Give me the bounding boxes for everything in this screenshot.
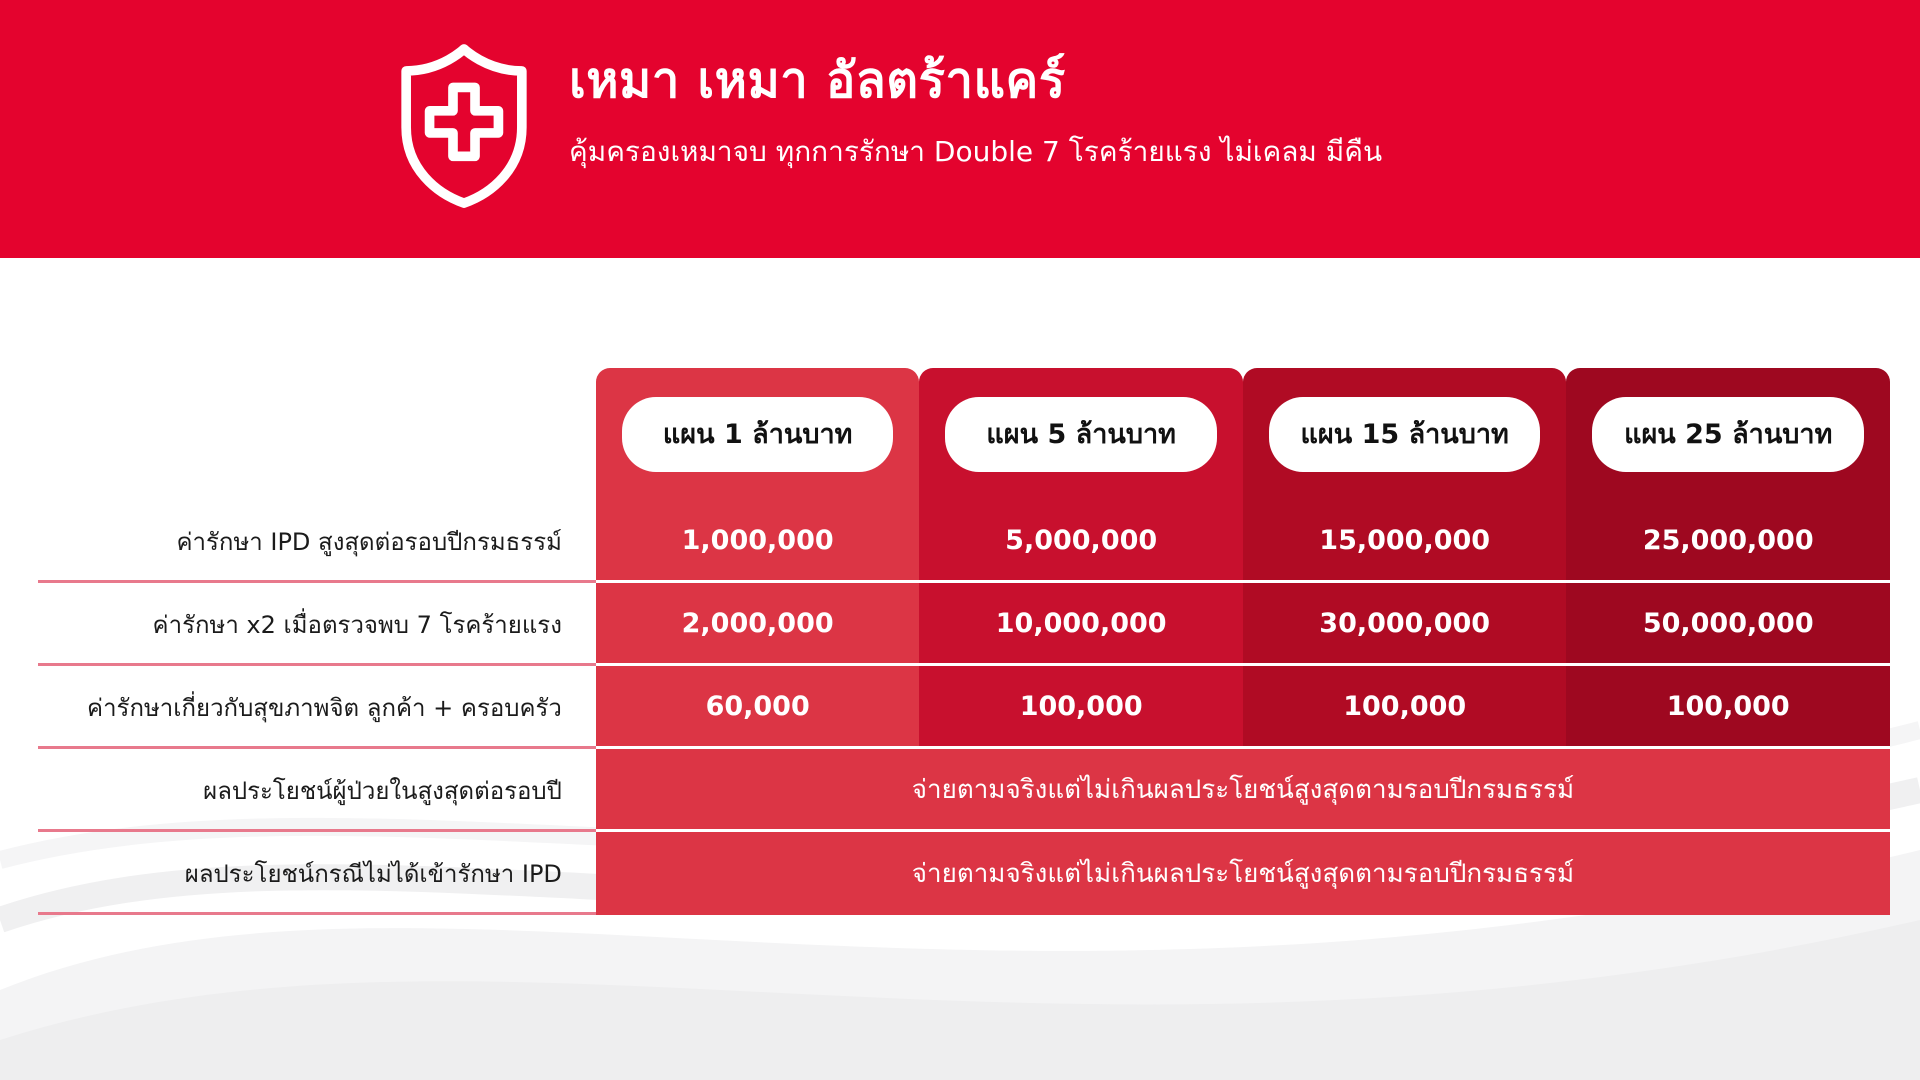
benefit-value-3-4: 100,000 <box>1566 666 1890 749</box>
benefit-value-1-1: 1,000,000 <box>596 500 920 583</box>
table-corner-cell <box>30 368 596 500</box>
table-row: ผลประโยชน์กรณีไม่ได้เข้ารักษา IPD จ่ายตา… <box>30 832 1890 915</box>
plan-comparison-table: แผน 1 ล้านบาท แผน 5 ล้านบาท แผน 15 ล้านบ… <box>30 368 1890 915</box>
table-row: ค่ารักษา x2 เมื่อตรวจพบ 7 โรคร้ายแรง 2,0… <box>30 583 1890 666</box>
page-title: เหมา เหมา อัลตร้าแคร์ <box>569 54 1382 109</box>
shield-medical-cross-icon <box>395 42 533 210</box>
benefit-label-5: ผลประโยชน์กรณีไม่ได้เข้ารักษา IPD <box>30 832 596 915</box>
header-banner: เหมา เหมา อัลตร้าแคร์ คุ้มครองเหมาจบ ทุก… <box>0 0 1920 258</box>
table-header-row: แผน 1 ล้านบาท แผน 5 ล้านบาท แผน 15 ล้านบ… <box>30 368 1890 500</box>
benefit-value-5-merged: จ่ายตามจริงแต่ไม่เกินผลประโยชน์สูงสุดตาม… <box>596 832 1890 915</box>
benefit-value-1-3: 15,000,000 <box>1243 500 1567 583</box>
benefit-label-4: ผลประโยชน์ผู้ป่วยในสูงสุดต่อรอบปี <box>30 749 596 832</box>
banner-text-block: เหมา เหมา อัลตร้าแคร์ คุ้มครองเหมาจบ ทุก… <box>569 38 1382 168</box>
plan-header-label-2: แผน 5 ล้านบาท <box>945 397 1217 472</box>
plan-header-3[interactable]: แผน 15 ล้านบาท <box>1243 368 1567 500</box>
benefit-value-1-4: 25,000,000 <box>1566 500 1890 583</box>
plan-header-4[interactable]: แผน 25 ล้านบาท <box>1566 368 1890 500</box>
plan-header-label-3: แผน 15 ล้านบาท <box>1269 397 1541 472</box>
plan-header-label-4: แผน 25 ล้านบาท <box>1592 397 1864 472</box>
table-row: ค่ารักษาเกี่ยวกับสุขภาพจิต ลูกค้า + ครอบ… <box>30 666 1890 749</box>
plan-header-1[interactable]: แผน 1 ล้านบาท <box>596 368 920 500</box>
benefit-value-2-4: 50,000,000 <box>1566 583 1890 666</box>
plan-header-2[interactable]: แผน 5 ล้านบาท <box>919 368 1243 500</box>
benefit-value-3-2: 100,000 <box>919 666 1243 749</box>
benefit-label-2: ค่ารักษา x2 เมื่อตรวจพบ 7 โรคร้ายแรง <box>30 583 596 666</box>
table-row: ค่ารักษา IPD สูงสุดต่อรอบปีกรมธรรม์ 1,00… <box>30 500 1890 583</box>
benefit-value-3-3: 100,000 <box>1243 666 1567 749</box>
benefit-value-2-3: 30,000,000 <box>1243 583 1567 666</box>
benefit-value-2-1: 2,000,000 <box>596 583 920 666</box>
benefit-value-2-2: 10,000,000 <box>919 583 1243 666</box>
plan-header-label-1: แผน 1 ล้านบาท <box>622 397 894 472</box>
benefit-value-3-1: 60,000 <box>596 666 920 749</box>
benefit-value-4-merged: จ่ายตามจริงแต่ไม่เกินผลประโยชน์สูงสุดตาม… <box>596 749 1890 832</box>
table-row: ผลประโยชน์ผู้ป่วยในสูงสุดต่อรอบปี จ่ายตา… <box>30 749 1890 832</box>
benefit-label-3: ค่ารักษาเกี่ยวกับสุขภาพจิต ลูกค้า + ครอบ… <box>30 666 596 749</box>
banner-content: เหมา เหมา อัลตร้าแคร์ คุ้มครองเหมาจบ ทุก… <box>395 38 1382 210</box>
benefit-label-1: ค่ารักษา IPD สูงสุดต่อรอบปีกรมธรรม์ <box>30 500 596 583</box>
benefit-value-1-2: 5,000,000 <box>919 500 1243 583</box>
insurance-plan-comparison-page: เหมา เหมา อัลตร้าแคร์ คุ้มครองเหมาจบ ทุก… <box>0 0 1920 1080</box>
plan-table-container: แผน 1 ล้านบาท แผน 5 ล้านบาท แผน 15 ล้านบ… <box>0 258 1920 1080</box>
page-subtitle: คุ้มครองเหมาจบ ทุกการรักษา Double 7 โรคร… <box>569 135 1382 169</box>
